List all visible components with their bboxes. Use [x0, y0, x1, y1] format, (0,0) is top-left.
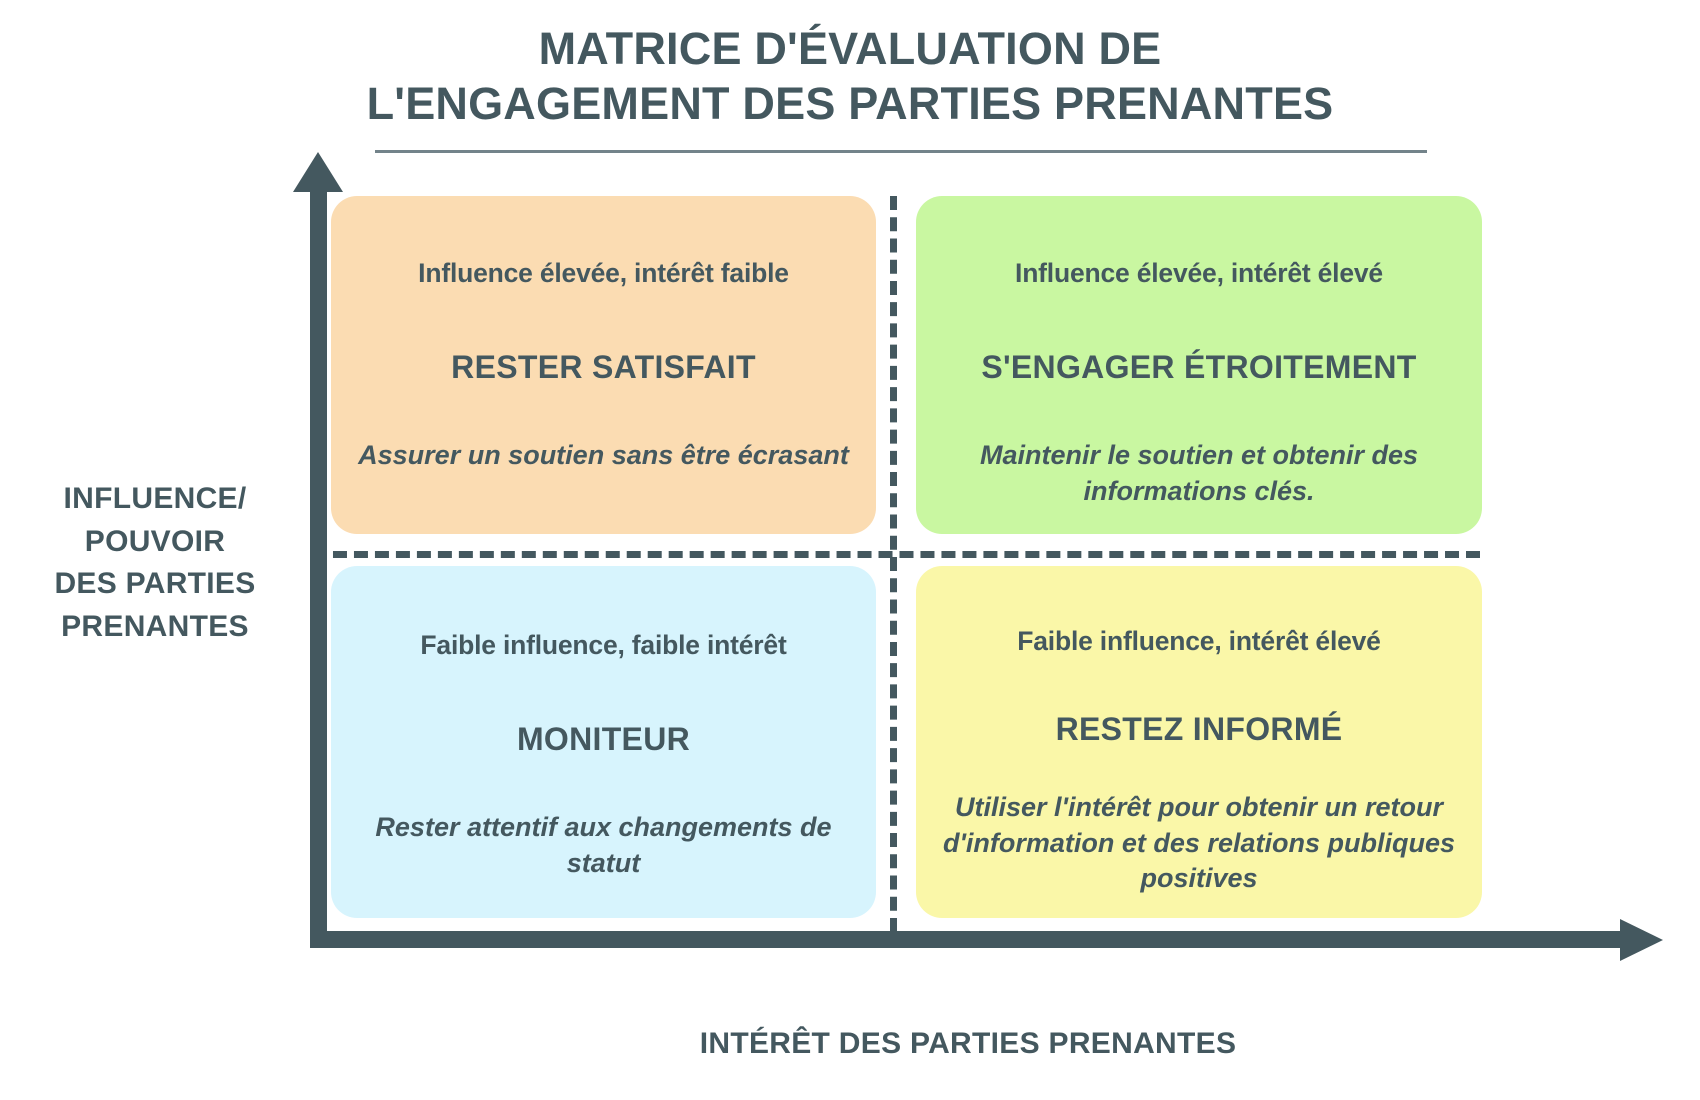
- page-title: MATRICE D'ÉVALUATION DE L'ENGAGEMENT DES…: [0, 22, 1700, 132]
- x-axis-label: INTÉRÊT DES PARTIES PRENANTES: [310, 1027, 1626, 1061]
- quadrant-high-influence-high-interest[interactable]: Influence élevée, intérêt élevé S'ENGAGE…: [916, 196, 1482, 534]
- quadrant-action: RESTER SATISFAIT: [451, 348, 756, 386]
- y-axis-label-line-1: INFLUENCE/: [10, 478, 300, 521]
- y-axis-arrowhead-icon: [293, 152, 343, 192]
- x-axis-arrowhead-icon: [1620, 919, 1663, 961]
- vertical-dashed-divider: [890, 196, 897, 932]
- y-axis-line: [310, 188, 327, 948]
- y-axis-label-line-2: POUVOIR: [10, 521, 300, 564]
- quadrant-low-influence-low-interest[interactable]: Faible influence, faible intérêt MONITEU…: [331, 566, 876, 918]
- quadrant-heading: Influence élevée, intérêt élevé: [1015, 258, 1383, 290]
- title-line-2: L'ENGAGEMENT DES PARTIES PRENANTES: [0, 77, 1700, 132]
- quadrant-action: MONITEUR: [517, 720, 690, 758]
- quadrant-high-influence-low-interest[interactable]: Influence élevée, intérêt faible RESTER …: [331, 196, 876, 534]
- title-divider-rule: [375, 150, 1427, 153]
- quadrant-low-influence-high-interest[interactable]: Faible influence, intérêt élevé RESTEZ I…: [916, 566, 1482, 918]
- quadrant-action: RESTEZ INFORMÉ: [1056, 710, 1343, 748]
- quadrant-description: Maintenir le soutien et obtenir des info…: [942, 438, 1456, 509]
- quadrant-heading: Faible influence, faible intérêt: [420, 630, 786, 662]
- quadrant-heading: Faible influence, intérêt élevé: [1017, 626, 1380, 658]
- quadrant-description: Assurer un soutien sans être écrasant: [358, 438, 849, 474]
- y-axis-label: INFLUENCE/ POUVOIR DES PARTIES PRENANTES: [10, 478, 300, 648]
- quadrant-description: Rester attentif aux changements de statu…: [357, 810, 850, 881]
- quadrant-heading: Influence élevée, intérêt faible: [418, 258, 789, 290]
- y-axis-label-line-3: DES PARTIES: [10, 563, 300, 606]
- x-axis-line: [310, 931, 1626, 948]
- title-line-1: MATRICE D'ÉVALUATION DE: [0, 22, 1700, 77]
- quadrant-description: Utiliser l'intérêt pour obtenir un retou…: [942, 790, 1456, 897]
- matrix-canvas: MATRICE D'ÉVALUATION DE L'ENGAGEMENT DES…: [0, 0, 1700, 1100]
- quadrant-action: S'ENGAGER ÉTROITEMENT: [981, 348, 1416, 386]
- y-axis-label-line-4: PRENANTES: [10, 606, 300, 649]
